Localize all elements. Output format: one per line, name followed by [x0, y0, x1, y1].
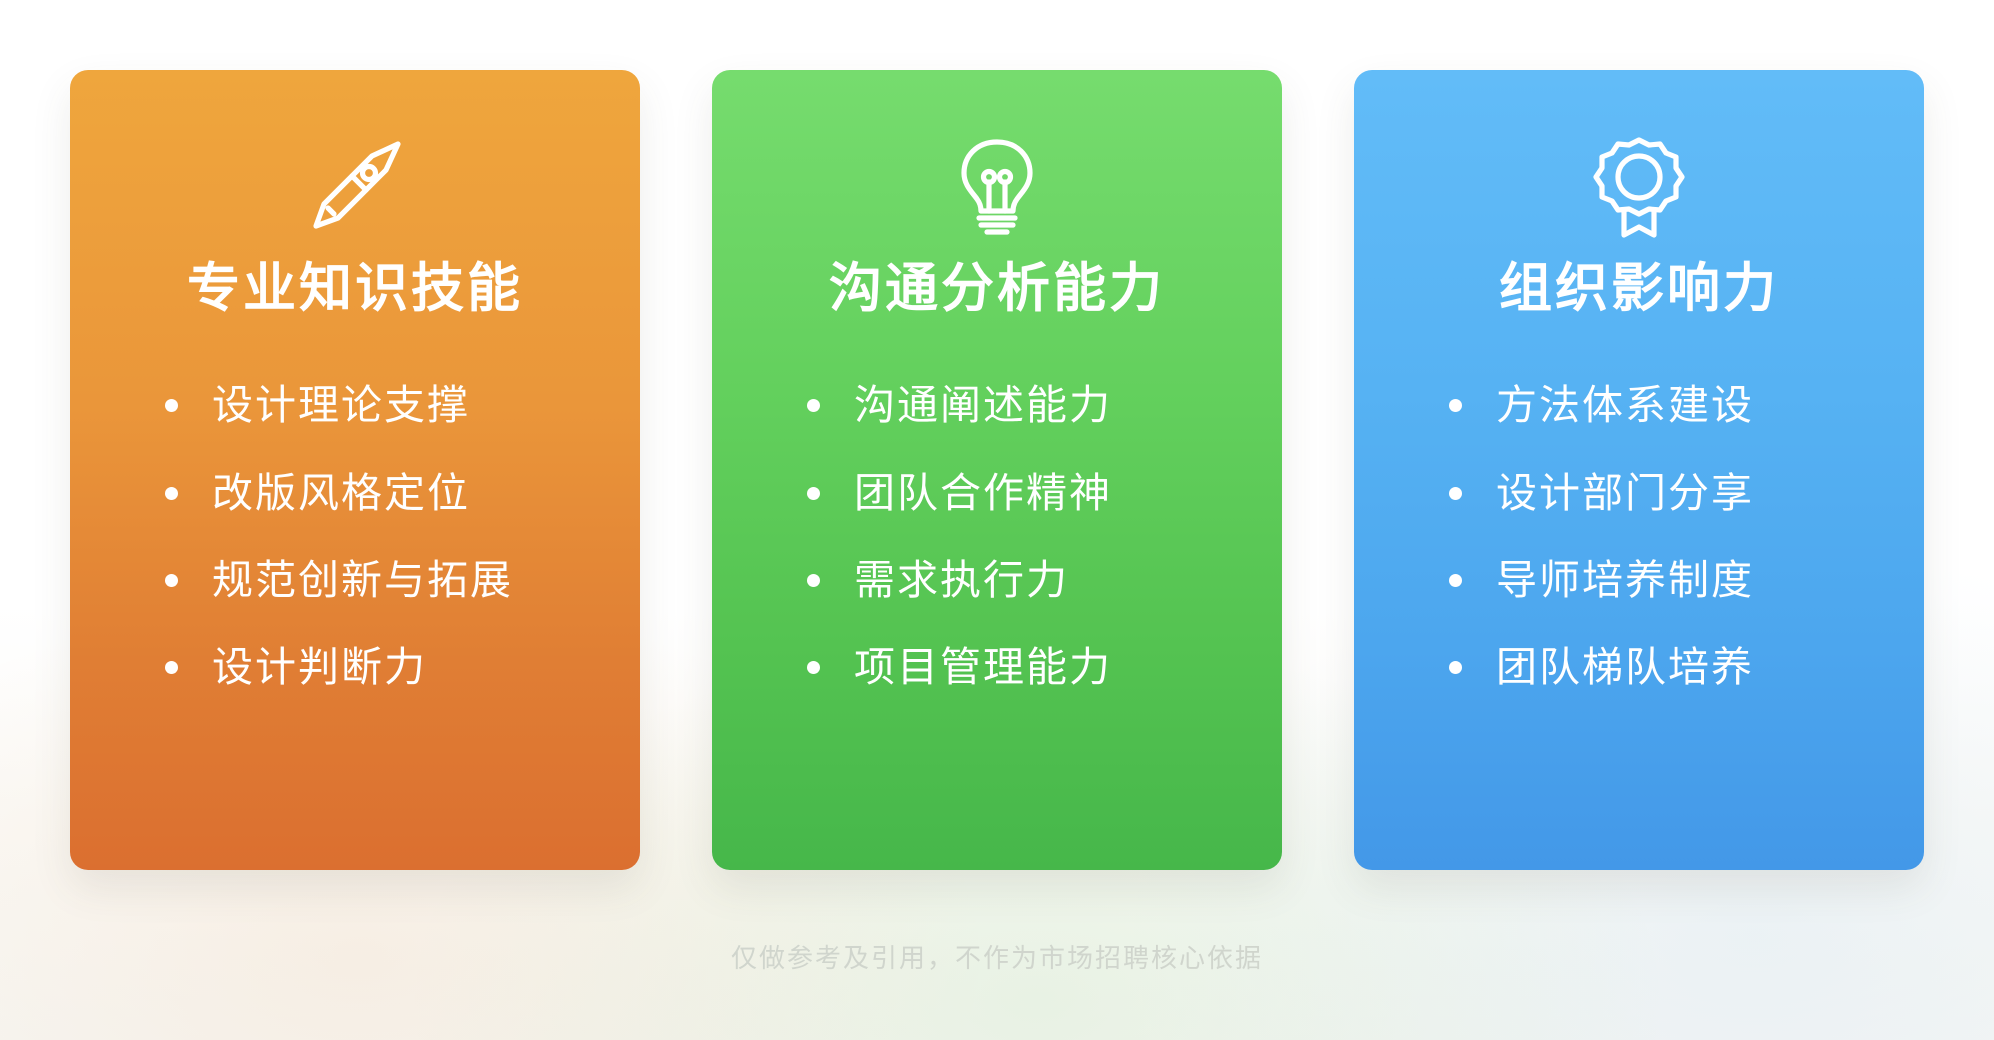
card-communication-analysis-ability[interactable]: 沟通分析能力 沟通阐述能力 团队合作精神 需求执行力 项目管理能力: [712, 70, 1282, 870]
bullet-dot-icon: [1449, 487, 1462, 500]
bullet-dot-icon: [165, 399, 178, 412]
bullet-dot-icon: [1449, 574, 1462, 587]
list-item: 规范创新与拓展: [165, 555, 545, 606]
card-title: 组织影响力: [1499, 260, 1779, 318]
bullet-label: 规范创新与拓展: [212, 555, 513, 606]
card-professional-knowledge-skills[interactable]: 专业知识技能 设计理论支撑 改版风格定位 规范创新与拓展 设计判断力: [70, 70, 640, 870]
bullet-label: 团队梯队培养: [1496, 642, 1754, 693]
card-title: 专业知识技能: [187, 260, 523, 318]
bullet-label: 设计判断力: [212, 642, 427, 693]
list-item: 团队合作精神: [807, 468, 1187, 519]
bullet-dot-icon: [807, 399, 820, 412]
bullet-list: 设计理论支撑 改版风格定位 规范创新与拓展 设计判断力: [70, 380, 640, 693]
bullet-label: 设计部门分享: [1496, 468, 1754, 519]
list-item: 设计理论支撑: [165, 380, 545, 431]
card-title: 沟通分析能力: [829, 260, 1165, 318]
bullet-dot-icon: [1449, 399, 1462, 412]
bullet-list: 方法体系建设 设计部门分享 导师培养制度 团队梯队培养: [1354, 380, 1924, 693]
list-item: 需求执行力: [807, 555, 1187, 606]
lightbulb-icon: [947, 128, 1047, 246]
bullet-dot-icon: [165, 574, 178, 587]
list-item: 设计部门分享: [1449, 468, 1829, 519]
list-item: 设计判断力: [165, 642, 545, 693]
bullet-label: 沟通阐述能力: [854, 380, 1112, 431]
list-item: 改版风格定位: [165, 468, 545, 519]
footnote-disclaimer: 仅做参考及引用，不作为市场招聘核心依据: [0, 938, 1994, 975]
bullet-dot-icon: [165, 487, 178, 500]
bullet-dot-icon: [165, 661, 178, 674]
list-item: 团队梯队培养: [1449, 642, 1829, 693]
bullet-label: 导师培养制度: [1496, 555, 1754, 606]
bullet-label: 需求执行力: [854, 555, 1069, 606]
bullet-label: 项目管理能力: [854, 642, 1112, 693]
bullet-dot-icon: [807, 574, 820, 587]
bullet-dot-icon: [807, 487, 820, 500]
list-item: 项目管理能力: [807, 642, 1187, 693]
bullet-dot-icon: [807, 661, 820, 674]
bullet-label: 设计理论支撑: [212, 380, 470, 431]
pen-nib-icon: [302, 128, 408, 246]
bullet-dot-icon: [1449, 661, 1462, 674]
bullet-label: 改版风格定位: [212, 468, 470, 519]
bullet-label: 方法体系建设: [1496, 380, 1754, 431]
bullet-label: 团队合作精神: [854, 468, 1112, 519]
card-row: 专业知识技能 设计理论支撑 改版风格定位 规范创新与拓展 设计判断力: [70, 70, 1924, 870]
list-item: 导师培养制度: [1449, 555, 1829, 606]
list-item: 沟通阐述能力: [807, 380, 1187, 431]
card-organizational-influence[interactable]: 组织影响力 方法体系建设 设计部门分享 导师培养制度 团队梯队培养: [1354, 70, 1924, 870]
competency-cards-diagram: 专业知识技能 设计理论支撑 改版风格定位 规范创新与拓展 设计判断力: [0, 0, 1994, 1040]
award-medal-icon: [1589, 128, 1689, 246]
list-item: 方法体系建设: [1449, 380, 1829, 431]
bullet-list: 沟通阐述能力 团队合作精神 需求执行力 项目管理能力: [712, 380, 1282, 693]
